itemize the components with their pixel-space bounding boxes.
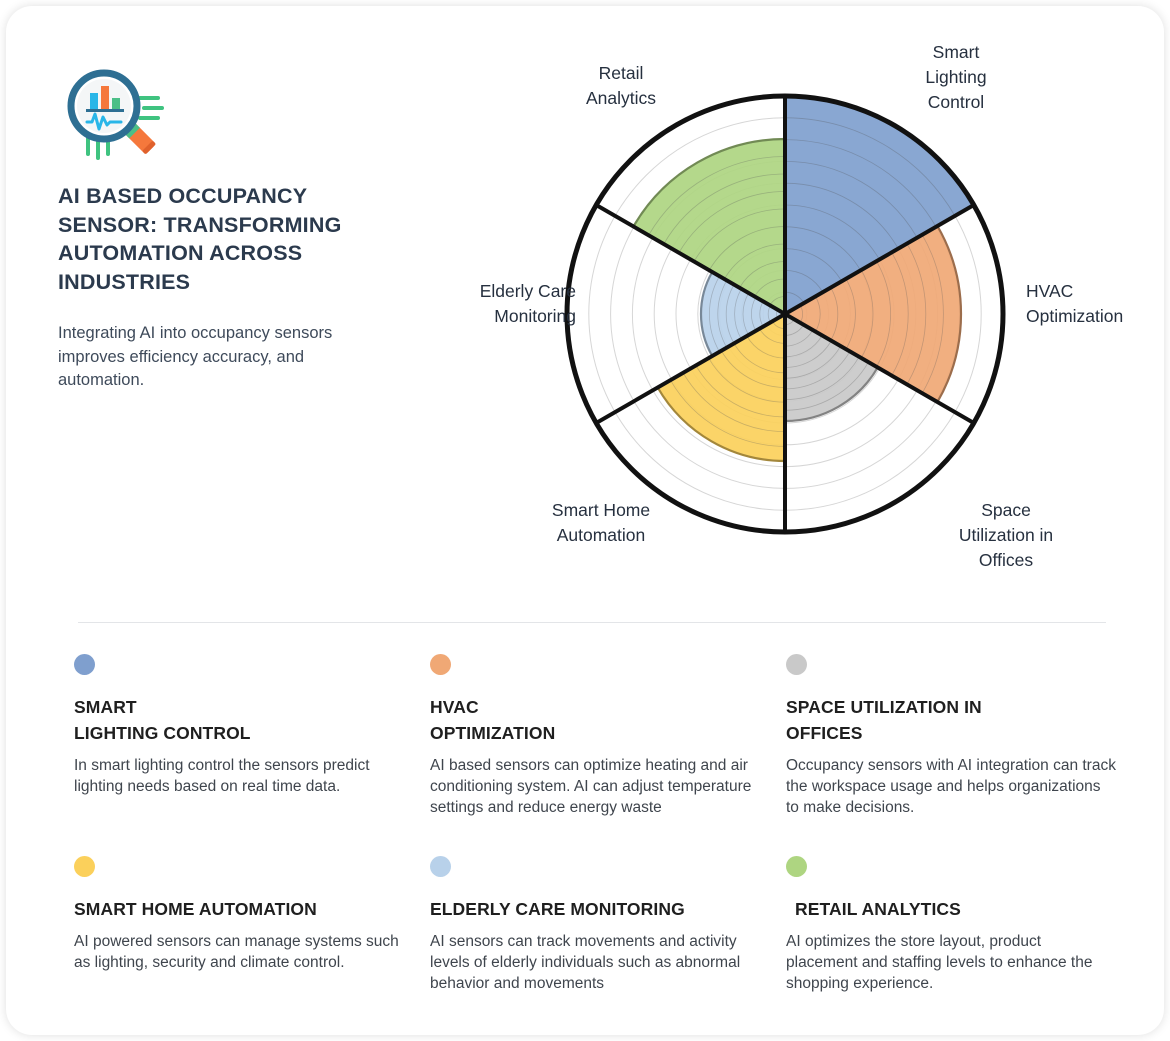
chart-sectors xyxy=(633,96,973,461)
legend-dot-elderly-care-monitoring xyxy=(430,856,451,877)
page-subtitle: Integrating AI into occupancy sensors im… xyxy=(58,322,388,393)
legend-title-space-utilization-in-offices: SPACE UTILIZATION IN OFFICES xyxy=(786,694,1116,746)
axis-label-elderly-care-monitoring: Elderly Care Monitoring xyxy=(416,279,576,329)
legend-title-smart-home-automation: SMART HOME AUTOMATION xyxy=(74,896,412,922)
legend-desc-smart-lighting-control: In smart lighting control the sensors pr… xyxy=(74,755,412,797)
legend-item-smart-lighting-control[interactable]: SMART LIGHTING CONTROL In smart lighting… xyxy=(74,654,430,818)
infographic-card: AI BASED OCCUPANCY SENSOR: TRANSFORMING … xyxy=(6,6,1164,1035)
legend-desc-retail-analytics: AI optimizes the store layout, product p… xyxy=(786,931,1116,994)
legend-item-retail-analytics[interactable]: RETAIL ANALYTICS AI optimizes the store … xyxy=(786,856,1134,994)
legend-dot-smart-home-automation xyxy=(74,856,95,877)
legend-dot-smart-lighting-control xyxy=(74,654,95,675)
legend-item-smart-home-automation[interactable]: SMART HOME AUTOMATION AI powered sensors… xyxy=(74,856,430,994)
intro-block: AI BASED OCCUPANCY SENSOR: TRANSFORMING … xyxy=(58,64,388,393)
legend-title-retail-analytics: RETAIL ANALYTICS xyxy=(786,896,1116,922)
legend-item-space-utilization-in-offices[interactable]: SPACE UTILIZATION IN OFFICES Occupancy s… xyxy=(786,654,1134,818)
legend-grid: SMART LIGHTING CONTROL In smart lighting… xyxy=(74,654,1134,994)
legend-desc-hvac-optimization: AI based sensors can optimize heating an… xyxy=(430,755,768,818)
legend-dot-space-utilization-in-offices xyxy=(786,654,807,675)
axis-label-retail-analytics: Retail Analytics xyxy=(546,61,696,111)
magnifier-chart-icon xyxy=(58,64,168,164)
axis-label-smart-lighting-control: Smart Lighting Control xyxy=(886,40,1026,115)
axis-label-space-utilization-in-offices: Space Utilization in Offices xyxy=(926,498,1086,573)
legend-desc-smart-home-automation: AI powered sensors can manage systems su… xyxy=(74,931,412,973)
legend-desc-elderly-care-monitoring: AI sensors can track movements and activ… xyxy=(430,931,768,994)
page-title: AI BASED OCCUPANCY SENSOR: TRANSFORMING … xyxy=(58,182,388,296)
axis-label-smart-home-automation: Smart Home Automation xyxy=(516,498,686,548)
legend-item-elderly-care-monitoring[interactable]: ELDERLY CARE MONITORING AI sensors can t… xyxy=(430,856,786,994)
legend-title-smart-lighting-control: SMART LIGHTING CONTROL xyxy=(74,694,412,746)
legend-title-elderly-care-monitoring: ELDERLY CARE MONITORING xyxy=(430,896,768,922)
axis-label-hvac-optimization: HVAC Optimization xyxy=(1026,279,1164,329)
legend-dot-hvac-optimization xyxy=(430,654,451,675)
legend-item-hvac-optimization[interactable]: HVAC OPTIMIZATION AI based sensors can o… xyxy=(430,654,786,818)
legend-desc-space-utilization-in-offices: Occupancy sensors with AI integration ca… xyxy=(786,755,1116,818)
legend-title-hvac-optimization: HVAC OPTIMIZATION xyxy=(430,694,768,746)
legend-dot-retail-analytics xyxy=(786,856,807,877)
section-divider xyxy=(78,622,1106,623)
polar-area-chart: Smart Lighting Control HVAC Optimization… xyxy=(406,26,1164,606)
